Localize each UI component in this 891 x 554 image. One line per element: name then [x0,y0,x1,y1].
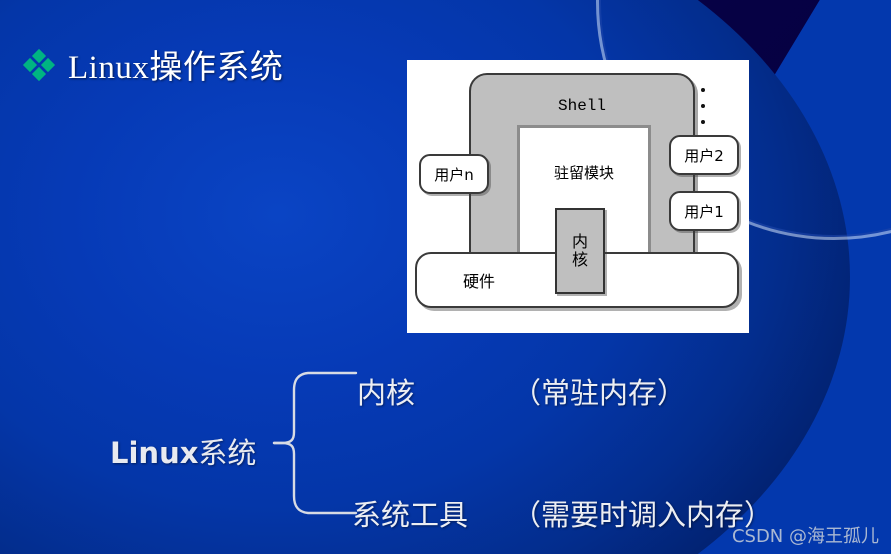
branch-label-kernel: 内核 [357,370,415,412]
slide-canvas: Linux操作系统 Shell 驻留模块 硬件 内 核 用户n 用户2 用户1 … [0,0,891,554]
watermark-text: CSDN @海王孤儿 [732,522,879,548]
user-box-2: 用户2 [669,135,739,175]
architecture-diagram: Shell 驻留模块 硬件 内 核 用户n 用户2 用户1 [407,60,749,333]
slide-title-row: Linux操作系统 [24,40,283,88]
linux-system-group-label: Linux系统 [110,430,256,472]
branch-note-kernel: （常驻内存） [512,370,686,412]
curly-brace-icon [272,368,358,518]
kernel-label-char-2: 核 [572,251,588,269]
hardware-label: 硬件 [463,268,495,292]
resident-module-label: 驻留模块 [520,162,648,183]
linux-system-latin: Linux [110,436,198,470]
page-title: Linux操作系统 [68,40,283,88]
shell-label: Shell [471,97,693,115]
diamond-cluster-icon [24,49,54,79]
branch-label-tools: 系统工具 [352,492,468,534]
vertical-ellipsis-icon [700,88,706,124]
user-box-n: 用户n [419,154,489,194]
kernel-label-char-1: 内 [572,233,588,251]
kernel-box: 内 核 [555,208,605,294]
user-box-1: 用户1 [669,191,739,231]
linux-system-han: 系统 [198,436,256,470]
